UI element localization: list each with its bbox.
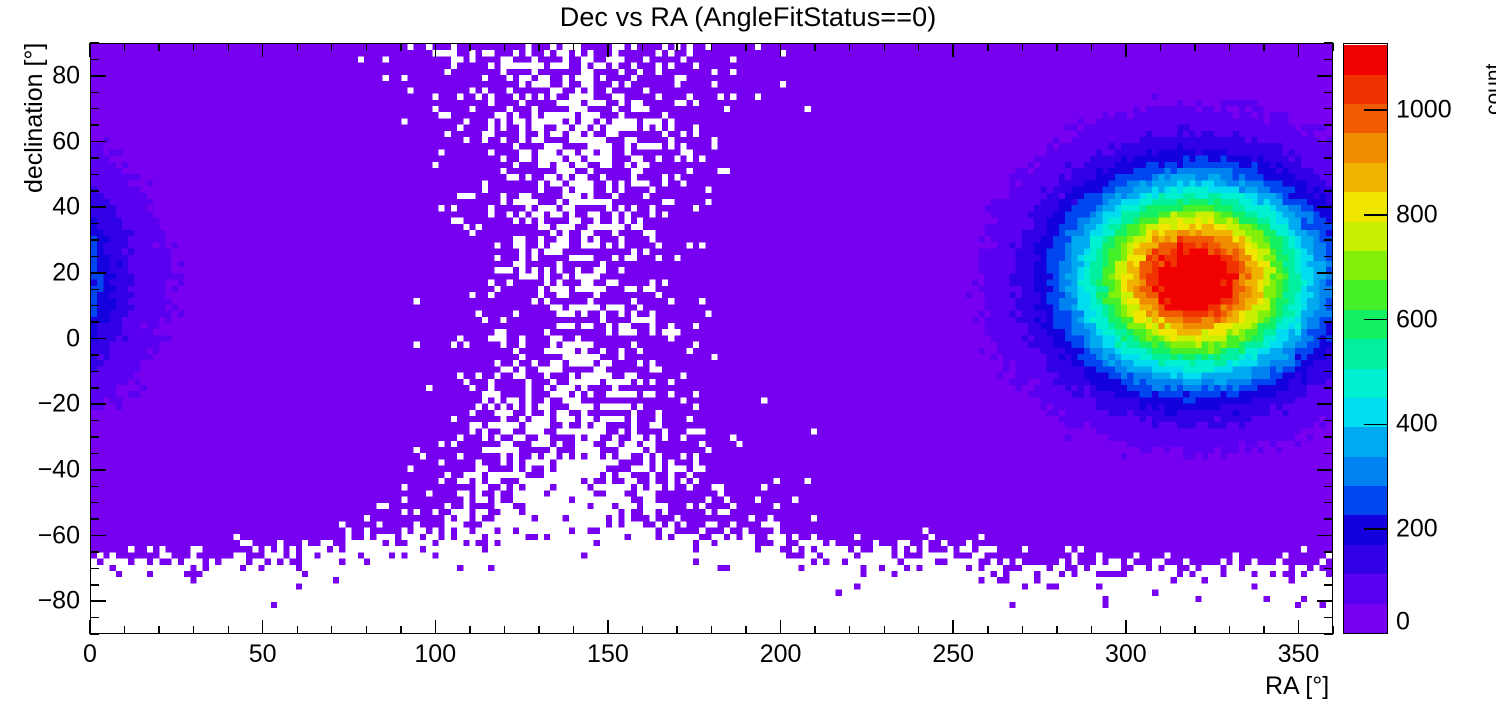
y-tick-minor [90, 174, 99, 175]
y-tick-major-right [1317, 600, 1333, 601]
x-tick-minor-top [1056, 43, 1057, 51]
y-tick-minor-right [1324, 387, 1333, 388]
y-tick-minor [90, 617, 99, 618]
x-tick-minor [814, 626, 815, 634]
color-bar-band [1344, 309, 1387, 339]
plot-canvas: Dec vs RA (AngleFitStatus==0) RA [°] dec… [0, 0, 1496, 722]
color-bar-title: count [1482, 64, 1496, 115]
color-bar-tick [1364, 424, 1388, 426]
y-tick-minor [90, 157, 99, 158]
x-tick-minor [987, 626, 988, 634]
color-bar [1343, 43, 1388, 634]
y-tick-minor [90, 551, 99, 552]
x-tick-minor-top [469, 43, 470, 51]
x-tick-minor-top [1263, 43, 1264, 51]
x-tick-minor-top [884, 43, 885, 51]
x-tick-minor [297, 626, 298, 634]
y-tick-minor [90, 124, 99, 125]
y-tick-label: −20 [0, 390, 80, 419]
x-tick-minor [331, 626, 332, 634]
y-tick-major-right [1317, 338, 1333, 339]
x-tick-minor [469, 626, 470, 634]
x-tick-major-top [262, 43, 263, 57]
color-bar-tick-label: 600 [1396, 305, 1438, 334]
y-tick-minor [90, 502, 99, 503]
color-bar-tick [1364, 214, 1388, 216]
x-tick-minor [1091, 626, 1092, 634]
x-tick-major [780, 620, 781, 634]
y-tick-minor-right [1324, 518, 1333, 519]
x-tick-minor-top [366, 43, 367, 51]
y-tick-major [90, 272, 106, 273]
x-tick-major-top [89, 43, 90, 57]
color-bar-band [1344, 45, 1387, 75]
x-tick-minor-top [1332, 43, 1333, 51]
y-tick-minor-right [1324, 190, 1333, 191]
page-title: Dec vs RA (AngleFitStatus==0) [0, 2, 1496, 33]
y-tick-label: −40 [0, 455, 80, 484]
y-tick-minor-right [1324, 502, 1333, 503]
x-tick-minor [1160, 626, 1161, 634]
color-bar-band [1344, 574, 1387, 604]
x-tick-minor [228, 626, 229, 634]
x-tick-minor-top [158, 43, 159, 51]
y-tick-minor-right [1324, 420, 1333, 421]
color-bar-band [1344, 456, 1387, 486]
histogram-frame [90, 43, 1333, 634]
x-tick-label: 100 [414, 640, 456, 669]
y-tick-minor [90, 190, 99, 191]
y-tick-major-right [1317, 141, 1333, 142]
y-tick-minor-right [1324, 551, 1333, 552]
color-bar-band [1344, 280, 1387, 310]
color-bar-tick-label: 400 [1396, 410, 1438, 439]
y-tick-label: −60 [0, 521, 80, 550]
heatmap-image [91, 44, 1332, 633]
color-bar-band [1344, 162, 1387, 192]
x-tick-minor [1229, 626, 1230, 634]
color-bar-tick-label: 1000 [1396, 96, 1452, 125]
x-tick-minor [1056, 626, 1057, 634]
color-bar-band [1344, 250, 1387, 280]
x-tick-major [435, 620, 436, 634]
y-tick-minor-right [1324, 617, 1333, 618]
color-bar-tick [1364, 319, 1388, 321]
color-bar-band [1344, 544, 1387, 574]
x-tick-minor-top [1022, 43, 1023, 51]
y-tick-major-right [1317, 469, 1333, 470]
x-tick-major [1125, 620, 1126, 634]
x-tick-minor [573, 626, 574, 634]
color-bar-band [1344, 103, 1387, 133]
color-bar-band [1344, 221, 1387, 251]
y-tick-minor-right [1324, 354, 1333, 355]
y-tick-minor [90, 453, 99, 454]
y-tick-minor [90, 59, 99, 60]
y-tick-label: 0 [0, 324, 80, 353]
x-tick-minor [193, 626, 194, 634]
y-tick-minor-right [1324, 568, 1333, 569]
color-bar-tick-label: 800 [1396, 200, 1438, 229]
y-tick-major [90, 535, 106, 536]
y-tick-label: 80 [0, 61, 80, 90]
x-tick-major [607, 620, 608, 634]
x-tick-minor [745, 626, 746, 634]
y-tick-major-right [1317, 75, 1333, 76]
y-tick-minor-right [1324, 157, 1333, 158]
x-tick-major-top [780, 43, 781, 57]
y-tick-minor [90, 436, 99, 437]
y-tick-minor [90, 371, 99, 372]
x-tick-minor [849, 626, 850, 634]
x-tick-minor-top [918, 43, 919, 51]
y-tick-minor-right [1324, 256, 1333, 257]
x-tick-minor-top [1091, 43, 1092, 51]
color-bar-band [1344, 339, 1387, 369]
x-tick-major-top [1298, 43, 1299, 57]
y-tick-minor-right [1324, 42, 1333, 43]
x-tick-minor-top [711, 43, 712, 51]
color-bar-tick [1364, 109, 1388, 111]
x-axis-title: RA [°] [1265, 672, 1329, 701]
x-tick-label: 250 [932, 640, 974, 669]
x-tick-label: 50 [249, 640, 277, 669]
y-tick-minor-right [1324, 305, 1333, 306]
y-tick-label: 40 [0, 193, 80, 222]
y-tick-minor [90, 486, 99, 487]
x-tick-label: 150 [587, 640, 629, 669]
x-tick-minor-top [193, 43, 194, 51]
x-tick-label: 0 [83, 640, 97, 669]
x-tick-minor-top [849, 43, 850, 51]
y-tick-minor [90, 92, 99, 93]
x-tick-major-top [952, 43, 953, 57]
x-tick-minor-top [745, 43, 746, 51]
x-tick-minor [538, 626, 539, 634]
y-tick-label: 60 [0, 127, 80, 156]
y-tick-minor [90, 387, 99, 388]
y-tick-minor-right [1324, 633, 1333, 634]
x-tick-major [262, 620, 263, 634]
x-tick-minor [642, 626, 643, 634]
y-tick-major-right [1317, 206, 1333, 207]
x-tick-minor [158, 626, 159, 634]
x-tick-label: 200 [760, 640, 802, 669]
y-tick-minor [90, 420, 99, 421]
x-tick-minor [366, 626, 367, 634]
y-tick-major [90, 75, 106, 76]
color-bar-tick-label: 0 [1396, 608, 1410, 637]
x-tick-major-top [607, 43, 608, 57]
y-tick-minor [90, 108, 99, 109]
x-tick-minor-top [1160, 43, 1161, 51]
x-tick-minor-top [642, 43, 643, 51]
y-tick-minor-right [1324, 223, 1333, 224]
y-tick-minor-right [1324, 436, 1333, 437]
y-tick-label: −80 [0, 587, 80, 616]
y-tick-minor-right [1324, 124, 1333, 125]
color-bar-band [1344, 192, 1387, 222]
y-tick-minor [90, 518, 99, 519]
x-tick-minor [400, 626, 401, 634]
y-tick-minor [90, 239, 99, 240]
y-tick-major [90, 600, 106, 601]
x-tick-minor-top [504, 43, 505, 51]
y-tick-minor [90, 633, 99, 634]
x-tick-minor [124, 626, 125, 634]
x-tick-minor-top [297, 43, 298, 51]
x-tick-minor-top [987, 43, 988, 51]
y-tick-major [90, 403, 106, 404]
y-tick-minor [90, 354, 99, 355]
x-tick-minor-top [228, 43, 229, 51]
y-tick-minor [90, 321, 99, 322]
x-tick-minor [711, 626, 712, 634]
y-tick-minor [90, 256, 99, 257]
y-tick-label: 20 [0, 258, 80, 287]
x-tick-minor [676, 626, 677, 634]
y-tick-minor-right [1324, 486, 1333, 487]
x-tick-major-top [1125, 43, 1126, 57]
y-tick-minor-right [1324, 59, 1333, 60]
y-tick-minor [90, 42, 99, 43]
color-bar-band [1344, 485, 1387, 515]
color-bar-band [1344, 133, 1387, 163]
x-tick-minor [884, 626, 885, 634]
x-tick-minor [1022, 626, 1023, 634]
color-bar-band [1344, 603, 1387, 633]
y-tick-major-right [1317, 403, 1333, 404]
y-tick-minor-right [1324, 92, 1333, 93]
y-tick-minor [90, 568, 99, 569]
y-tick-minor-right [1324, 371, 1333, 372]
y-tick-minor-right [1324, 453, 1333, 454]
y-tick-major [90, 206, 106, 207]
x-tick-minor [1194, 626, 1195, 634]
x-tick-label: 350 [1278, 640, 1320, 669]
color-bar-band [1344, 74, 1387, 104]
color-bar-band [1344, 368, 1387, 398]
x-tick-minor-top [538, 43, 539, 51]
x-tick-minor-top [814, 43, 815, 51]
x-tick-major [89, 620, 90, 634]
x-tick-minor-top [676, 43, 677, 51]
color-bar-tick [1364, 528, 1388, 530]
y-tick-minor [90, 289, 99, 290]
x-tick-label: 300 [1105, 640, 1147, 669]
y-tick-minor [90, 305, 99, 306]
color-bar-band [1344, 427, 1387, 457]
y-tick-major-right [1317, 535, 1333, 536]
y-tick-minor-right [1324, 584, 1333, 585]
x-tick-minor-top [331, 43, 332, 51]
y-tick-minor-right [1324, 174, 1333, 175]
x-tick-minor-top [1194, 43, 1195, 51]
x-tick-minor [918, 626, 919, 634]
x-tick-minor-top [1229, 43, 1230, 51]
y-tick-minor [90, 223, 99, 224]
x-tick-minor-top [573, 43, 574, 51]
y-tick-minor-right [1324, 289, 1333, 290]
x-tick-major [952, 620, 953, 634]
y-tick-minor-right [1324, 321, 1333, 322]
y-tick-minor [90, 584, 99, 585]
x-tick-minor [504, 626, 505, 634]
x-tick-minor [1263, 626, 1264, 634]
y-tick-major-right [1317, 272, 1333, 273]
y-tick-minor-right [1324, 239, 1333, 240]
x-tick-minor-top [400, 43, 401, 51]
color-bar-tick-label: 200 [1396, 515, 1438, 544]
x-tick-major-top [435, 43, 436, 57]
y-tick-minor-right [1324, 108, 1333, 109]
x-tick-major [1298, 620, 1299, 634]
y-tick-major [90, 141, 106, 142]
y-tick-major [90, 338, 106, 339]
x-tick-minor-top [124, 43, 125, 51]
y-tick-major [90, 469, 106, 470]
